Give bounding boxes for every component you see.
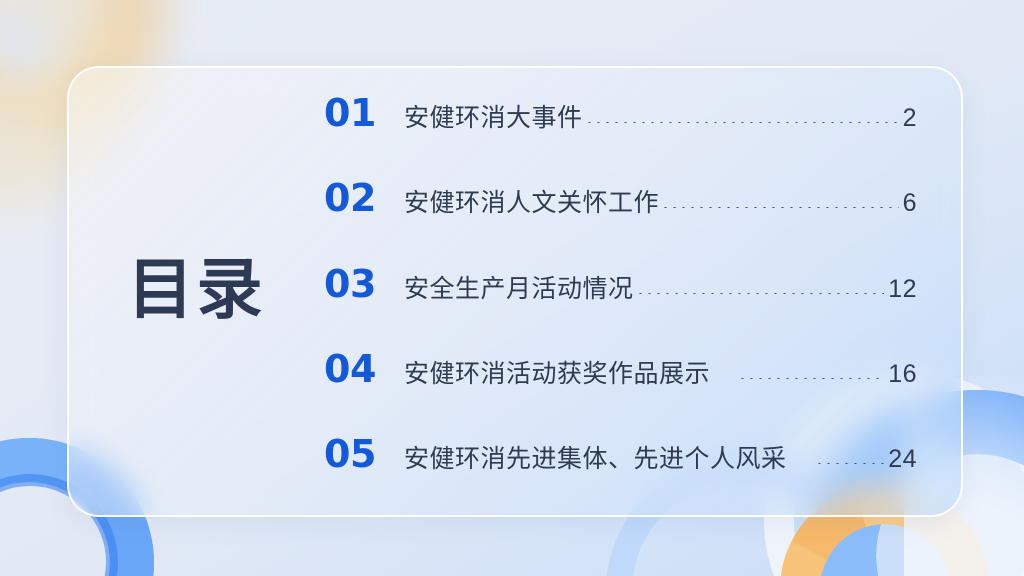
list-item[interactable]: 04 安健环消活动获奖作品展示 16 — [324, 350, 961, 406]
list-item[interactable]: 05 安健环消先进集体、先进个人风采 24 — [324, 435, 961, 491]
table-of-contents-card: 目录 01 安健环消大事件 2 02 安健环消人文关怀工作 6 — [67, 66, 963, 517]
item-label: 安健环消人文关怀工作 — [404, 183, 659, 219]
item-number: 03 — [324, 265, 390, 303]
item-body: 安健环消先进集体、先进个人风采 24 — [404, 439, 961, 475]
dot-leader — [738, 378, 884, 379]
dot-leader — [661, 207, 899, 208]
dot-leader — [815, 463, 885, 464]
item-label: 安全生产月活动情况 — [404, 269, 634, 305]
presentation-slide: 目录 01 安健环消大事件 2 02 安健环消人文关怀工作 6 — [0, 0, 1024, 576]
list-item[interactable]: 01 安健环消大事件 2 — [324, 94, 961, 150]
title-column: 目录 — [69, 68, 324, 515]
item-label: 安健环消先进集体、先进个人风采 — [404, 439, 787, 475]
item-page-number: 12 — [888, 275, 917, 304]
dot-leader — [585, 122, 899, 123]
list-item[interactable]: 02 安健环消人文关怀工作 6 — [324, 179, 961, 235]
item-body: 安全生产月活动情况 12 — [404, 269, 961, 305]
item-label: 安健环消活动获奖作品展示 — [404, 354, 710, 390]
item-body: 安健环消人文关怀工作 6 — [404, 183, 961, 219]
item-number: 02 — [324, 179, 390, 217]
dot-leader — [636, 293, 885, 294]
contents-list: 01 安健环消大事件 2 02 安健环消人文关怀工作 6 03 安全生产月 — [324, 68, 961, 515]
item-page-number: 24 — [888, 445, 917, 474]
item-number: 01 — [324, 94, 390, 132]
item-body: 安健环消大事件 2 — [404, 98, 961, 134]
page-title: 目录 — [128, 256, 266, 322]
item-number: 05 — [324, 435, 390, 473]
list-item[interactable]: 03 安全生产月活动情况 12 — [324, 265, 961, 321]
item-label: 安健环消大事件 — [404, 98, 583, 134]
item-number: 04 — [324, 350, 390, 388]
item-page-number: 2 — [903, 104, 917, 133]
item-body: 安健环消活动获奖作品展示 16 — [404, 354, 961, 390]
item-page-number: 6 — [903, 189, 917, 218]
item-page-number: 16 — [888, 360, 917, 389]
